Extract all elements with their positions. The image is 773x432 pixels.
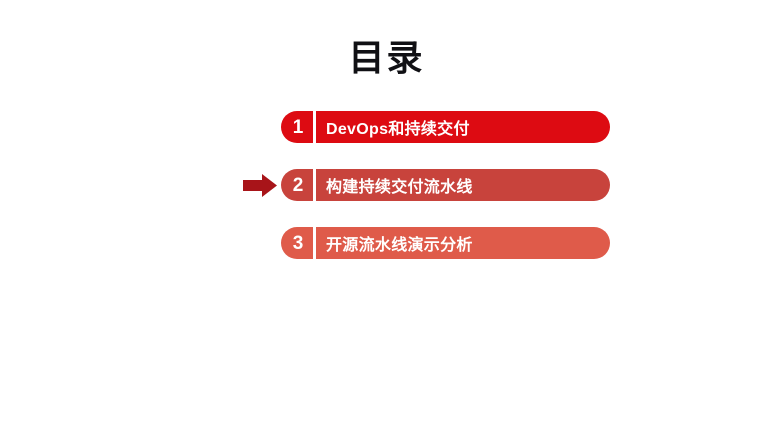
slide-canvas: 目录 1 DevOps和持续交付 2 构建持续交付流水线 3 开源流水线演示分析 [0,0,773,432]
agenda-item-3[interactable]: 3 开源流水线演示分析 [281,227,610,259]
arrow-right-icon [243,174,277,197]
agenda-item-1[interactable]: 1 DevOps和持续交付 [281,111,610,143]
agenda-item-number: 2 [281,169,313,201]
agenda-item-label: DevOps和持续交付 [316,111,610,143]
agenda-item-label: 构建持续交付流水线 [316,169,610,201]
agenda-item-label: 开源流水线演示分析 [316,227,610,259]
agenda-list: 1 DevOps和持续交付 2 构建持续交付流水线 3 开源流水线演示分析 [0,0,773,432]
agenda-item-number: 1 [281,111,313,143]
agenda-item-number: 3 [281,227,313,259]
agenda-item-2[interactable]: 2 构建持续交付流水线 [281,169,610,201]
